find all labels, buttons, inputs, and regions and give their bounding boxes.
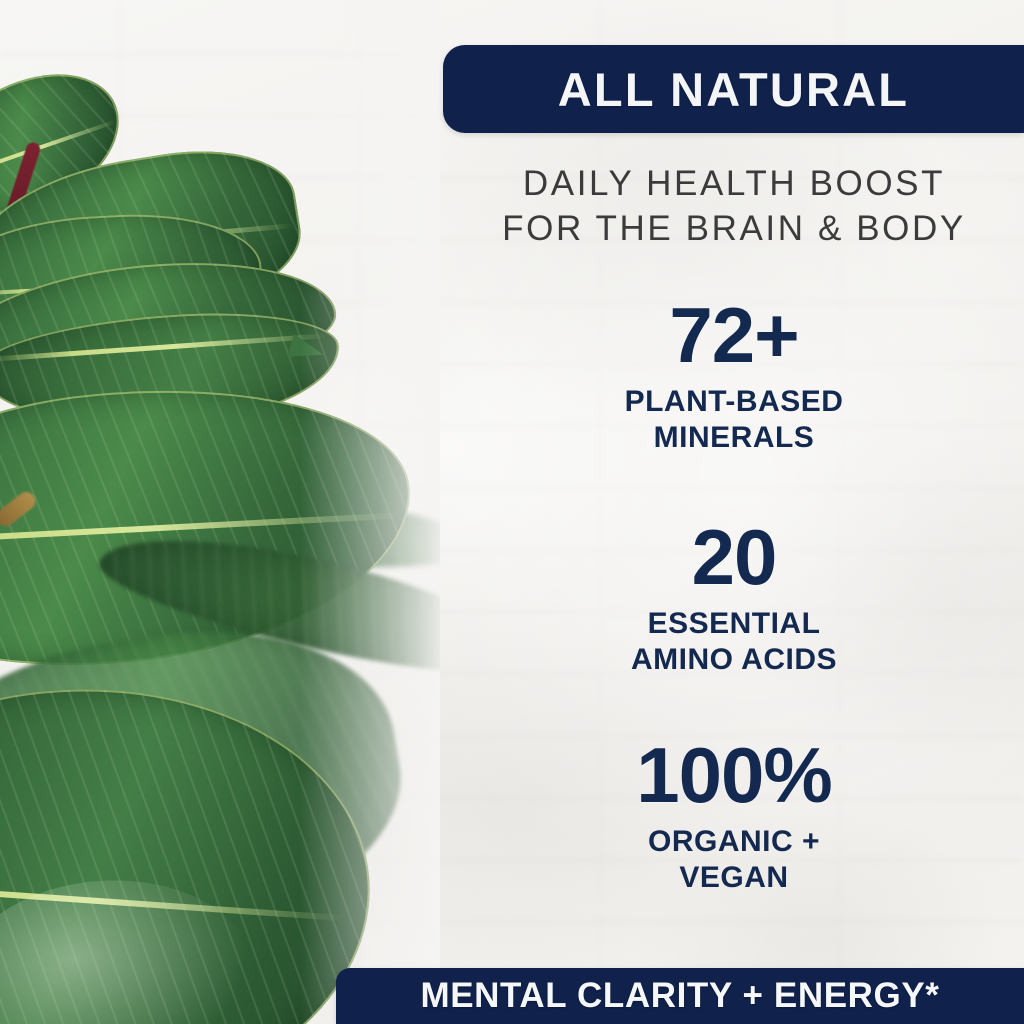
poster-canvas: ALL NATURAL DAILY HEALTH BOOST FOR THE B… xyxy=(0,0,1024,1024)
stat-label: ORGANIC + VEGAN xyxy=(444,824,1024,896)
stat-label: PLANT-BASED MINERALS xyxy=(444,384,1024,456)
stat-organic-vegan: 100% ORGANIC + VEGAN xyxy=(444,736,1024,896)
mental-clarity-banner-text: MENTAL CLARITY + ENERGY* xyxy=(420,976,939,1016)
stats-list: 72+ PLANT-BASED MINERALS 20 ESSENTIAL AM… xyxy=(444,296,1024,896)
all-natural-banner-text: ALL NATURAL xyxy=(558,62,909,117)
stat-number: 72+ xyxy=(444,296,1024,374)
subtitle-tagline: DAILY HEALTH BOOST FOR THE BRAIN & BODY xyxy=(502,162,966,252)
all-natural-banner: ALL NATURAL xyxy=(443,45,1024,133)
stat-number: 100% xyxy=(444,736,1024,814)
content-column: DAILY HEALTH BOOST FOR THE BRAIN & BODY … xyxy=(444,150,1024,896)
rubber-plant-photo xyxy=(0,0,440,1024)
stat-essential-amino-acids: 20 ESSENTIAL AMINO ACIDS xyxy=(444,518,1024,678)
stat-plant-based-minerals: 72+ PLANT-BASED MINERALS xyxy=(444,296,1024,456)
leaf-bottom-large xyxy=(0,670,384,1024)
stat-label: ESSENTIAL AMINO ACIDS xyxy=(444,606,1024,678)
stat-number: 20 xyxy=(444,518,1024,596)
mental-clarity-banner: MENTAL CLARITY + ENERGY* xyxy=(336,968,1024,1024)
